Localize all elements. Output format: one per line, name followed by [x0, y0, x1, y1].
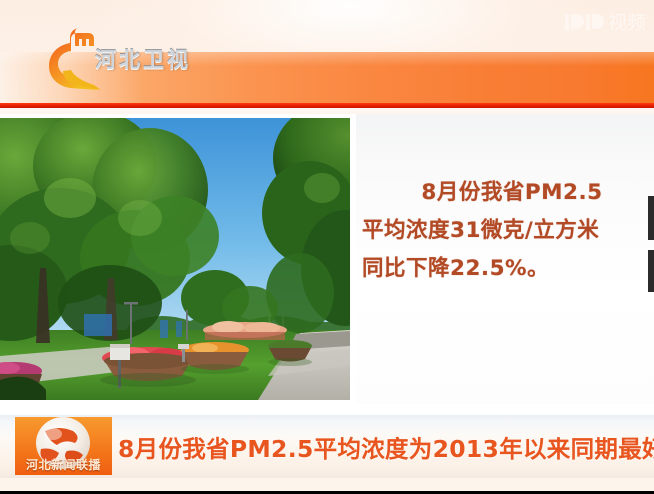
program-badge-label: 河北新闻联播 [15, 456, 112, 473]
headline-line-1: 8月份我省PM2.5 [360, 174, 650, 212]
pp-video-watermark: 视频 [565, 8, 646, 35]
tv-broadcast-screen: 河北卫视 视频 [0, 0, 654, 494]
news-photo [0, 118, 350, 400]
pp-video-watermark-label: 视频 [608, 8, 646, 35]
right-edge-strip-lower [648, 250, 654, 292]
pp-logo-icon [565, 11, 605, 33]
program-badge: 河北新闻联播 [15, 417, 112, 475]
hebei-tv-logo-text: 河北卫视 [95, 44, 191, 74]
right-edge-strip-upper [648, 196, 654, 240]
headline-text-block: 8月份我省PM2.5 平均浓度31微克/立方米 同比下降22.5%。 [360, 174, 650, 288]
headline-line-3: 同比下降22.5%。 [360, 250, 650, 288]
news-ticker-text: 8月份我省PM2.5平均浓度为2013年以来同期最好水平 [118, 430, 648, 464]
headline-line-2: 平均浓度31微克/立方米 [360, 212, 650, 250]
